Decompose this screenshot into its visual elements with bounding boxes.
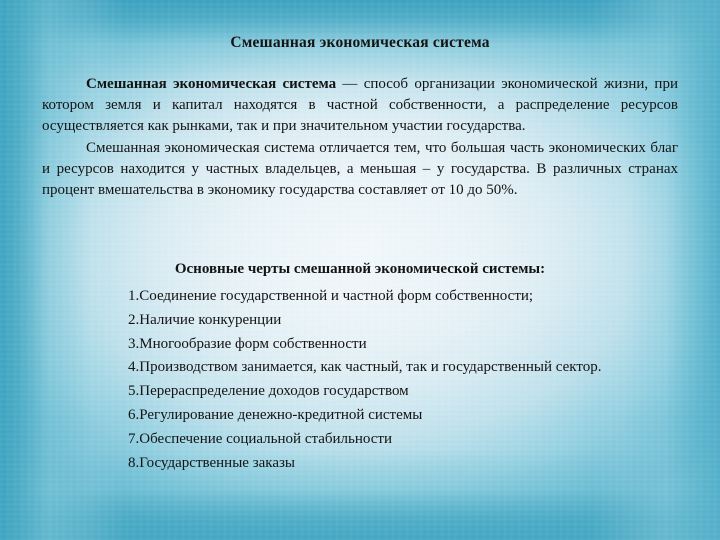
- list-item-number: 5.: [128, 383, 139, 399]
- list-item: 5.Перераспределение доходов государством: [128, 380, 680, 404]
- paragraph-definition: Смешанная экономическая система — способ…: [42, 74, 678, 138]
- list-item: 4.Производством занимается, как частный,…: [128, 356, 680, 380]
- list-item-label: Государственные заказы: [139, 455, 295, 471]
- list-item-label: Соединение государственной и частной фор…: [139, 288, 533, 304]
- characteristics-body: Смешанная экономическая система отличает…: [42, 140, 678, 198]
- list-item-label: Многообразие форм собственности: [139, 336, 366, 352]
- features-list: 1.Соединение государственной и частной ф…: [128, 285, 680, 475]
- list-item-number: 2.: [128, 312, 139, 328]
- presentation-slide: Смешанная экономическая система Смешанна…: [0, 0, 720, 540]
- list-item: 2.Наличие конкуренции: [128, 309, 680, 333]
- list-item-number: 6.: [128, 407, 139, 423]
- list-item-label: Регулирование денежно-кредитной системы: [139, 407, 422, 423]
- list-item-number: 7.: [128, 431, 139, 447]
- slide-title: Смешанная экономическая система: [42, 33, 678, 53]
- list-item-label: Производством занимается, как частный, т…: [139, 359, 601, 375]
- list-item: 7.Обеспечение социальной стабильности: [128, 428, 680, 452]
- list-item: 6.Регулирование денежно-кредитной систем…: [128, 404, 680, 428]
- features-list-heading: Основные черты смешанной экономической с…: [42, 259, 678, 280]
- list-item-number: 8.: [128, 455, 139, 471]
- definition-term: Смешанная экономическая система: [86, 76, 336, 92]
- list-item-number: 3.: [128, 336, 139, 352]
- list-item-number: 1.: [128, 288, 139, 304]
- list-item: 3.Многообразие форм собственности: [128, 333, 680, 357]
- slide-content: Смешанная экономическая система Смешанна…: [0, 0, 720, 540]
- slide-body-text: Смешанная экономическая система — способ…: [42, 74, 678, 201]
- list-item-number: 4.: [128, 359, 139, 375]
- list-item-label: Перераспределение доходов государством: [139, 383, 408, 399]
- list-item: 8.Государственные заказы: [128, 452, 680, 476]
- list-item-label: Обеспечение социальной стабильности: [139, 431, 392, 447]
- list-item: 1.Соединение государственной и частной ф…: [128, 285, 680, 309]
- list-item-label: Наличие конкуренции: [139, 312, 281, 328]
- paragraph-characteristics: Смешанная экономическая система отличает…: [42, 138, 678, 202]
